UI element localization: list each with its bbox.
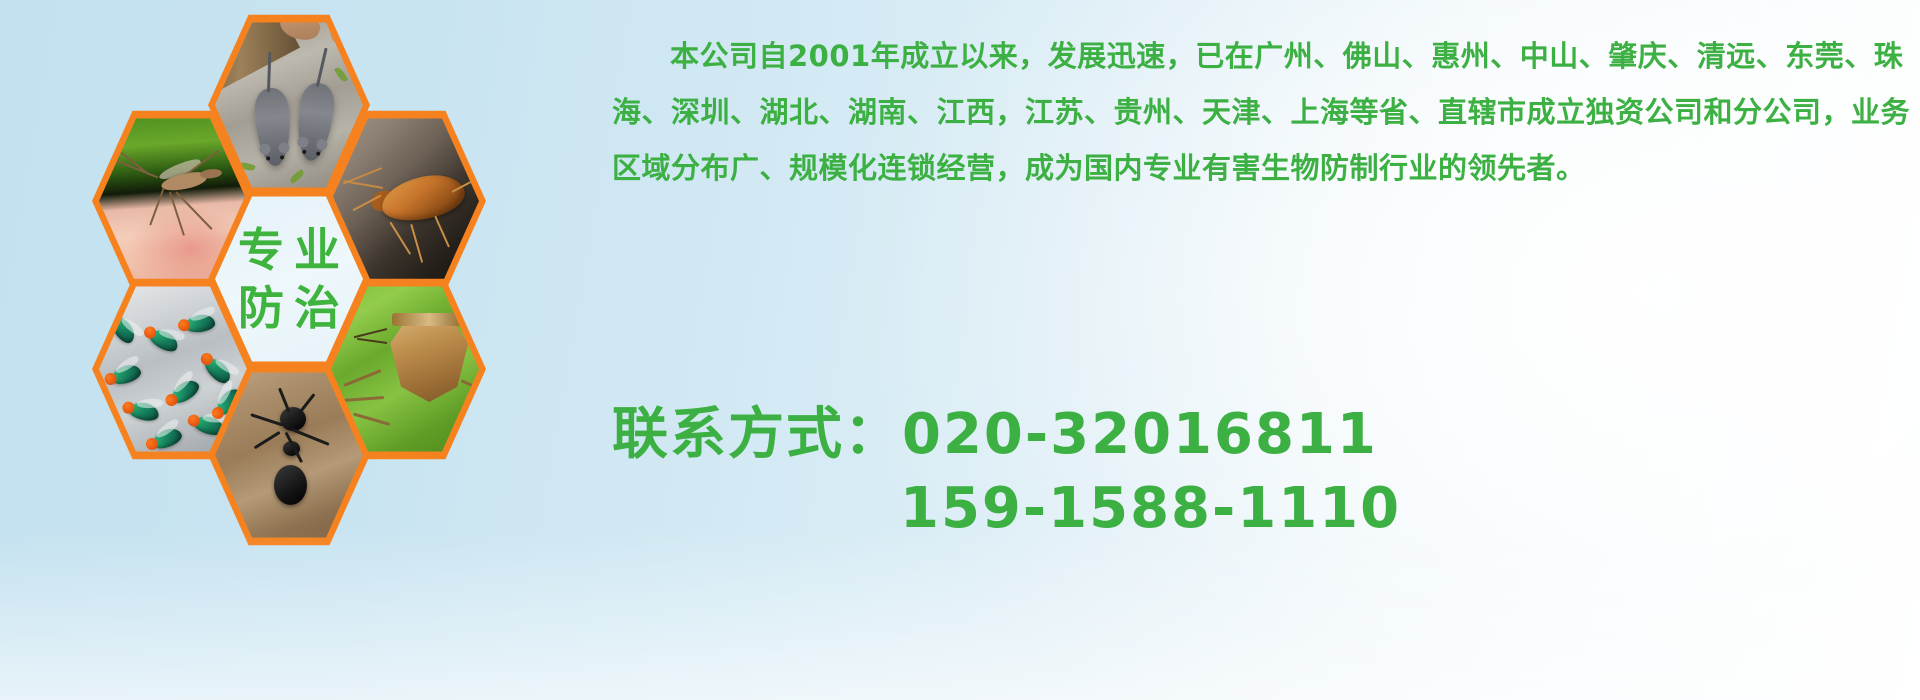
contact-line-secondary[interactable]: 159-1588-1110	[612, 472, 1912, 546]
intro-copy-block: 本公司自2001年成立以来，发展迅速，已在广州、佛山、惠州、中山、肇庆、清远、东…	[612, 28, 1912, 196]
promo-banner: 专业 防治 本公司自2001年成立以来，发展迅速，已在广州、佛山、惠州、中山、肇…	[0, 0, 1920, 700]
company-intro-paragraph: 本公司自2001年成立以来，发展迅速，已在广州、佛山、惠州、中山、肇庆、清远、东…	[612, 28, 1912, 196]
honeycomb-gallery: 专业 防治	[0, 0, 600, 580]
slogan-line-2: 防治	[228, 285, 350, 331]
contact-line-primary[interactable]: 联系方式：020-32016811	[612, 398, 1912, 472]
contact-block: 联系方式：020-32016811 159-1588-1110	[612, 398, 1912, 546]
hex-cell-slogan: 专业 防治	[208, 186, 370, 372]
slogan-line-1: 专业	[228, 227, 350, 273]
